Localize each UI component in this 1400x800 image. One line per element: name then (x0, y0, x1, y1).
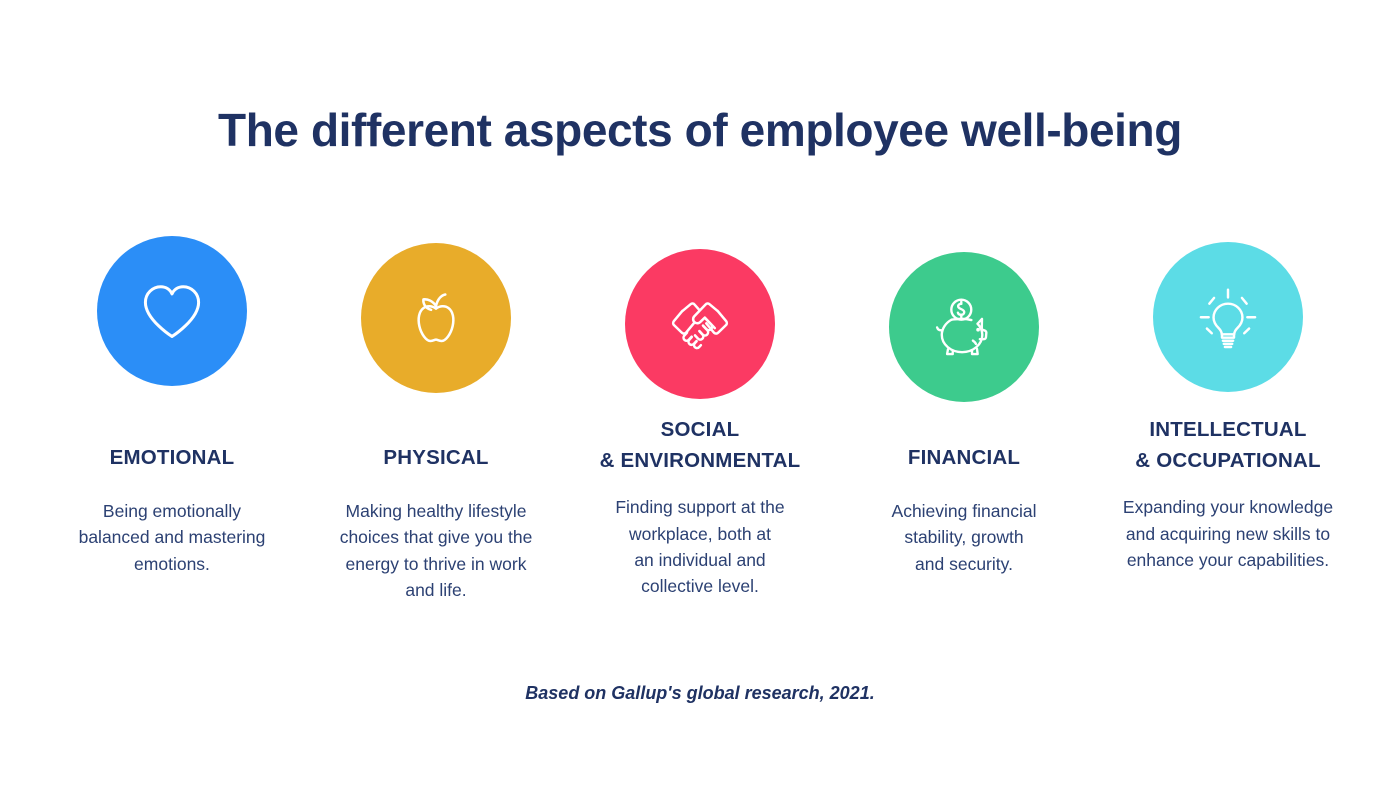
apple-icon (401, 283, 471, 353)
aspect-heading-social: SOCIAL & ENVIRONMENTAL (600, 414, 801, 476)
aspect-heading-physical: PHYSICAL (383, 442, 488, 473)
source-attribution: Based on Gallup's global research, 2021. (0, 683, 1400, 704)
aspect-column-social: SOCIAL & ENVIRONMENTAL Finding support a… (568, 236, 832, 599)
aspect-description-financial: Achieving financial stability, growth an… (892, 498, 1037, 577)
social-icon-circle (625, 249, 775, 399)
aspect-description-intellectual: Expanding your knowledge and acquiring n… (1123, 494, 1333, 573)
aspect-column-emotional: EMOTIONAL Being emotionally balanced and… (40, 236, 304, 577)
aspect-column-financial: FINANCIAL Achieving financial stability,… (832, 236, 1096, 577)
aspect-heading-emotional: EMOTIONAL (110, 442, 235, 473)
intellectual-icon-circle (1153, 242, 1303, 392)
aspects-row: EMOTIONAL Being emotionally balanced and… (40, 236, 1360, 603)
financial-icon-circle (889, 252, 1039, 402)
aspect-column-intellectual: INTELLECTUAL & OCCUPATIONAL Expanding yo… (1096, 236, 1360, 573)
heart-icon (135, 274, 209, 348)
physical-icon-circle (361, 243, 511, 393)
lightbulb-icon (1188, 277, 1268, 357)
infographic-slide: The different aspects of employee well-b… (0, 0, 1400, 800)
aspect-heading-intellectual: INTELLECTUAL & OCCUPATIONAL (1135, 414, 1320, 476)
aspect-heading-financial: FINANCIAL (908, 442, 1020, 473)
piggy-bank-icon (925, 288, 1003, 366)
aspect-description-physical: Making healthy lifestyle choices that gi… (340, 498, 533, 603)
aspect-description-emotional: Being emotionally balanced and mastering… (79, 498, 266, 577)
aspect-description-social: Finding support at the workplace, both a… (615, 494, 784, 599)
emotional-icon-circle (97, 236, 247, 386)
page-title: The different aspects of employee well-b… (0, 104, 1400, 157)
handshake-icon (659, 283, 741, 365)
aspect-column-physical: PHYSICAL Making healthy lifestyle choice… (304, 236, 568, 603)
